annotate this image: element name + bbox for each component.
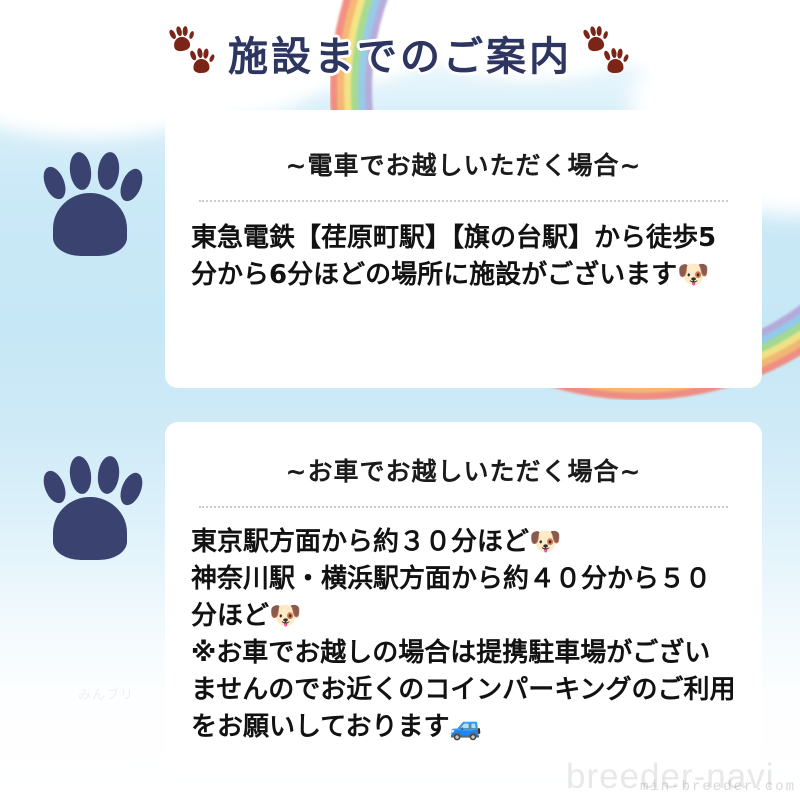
paw-print-pair-icon-left	[168, 25, 222, 81]
watermark-secondary: min-breeder.com	[640, 779, 796, 795]
card-divider	[199, 506, 728, 508]
watermark-faint: みんブリ	[78, 684, 134, 703]
paw-print-icon	[601, 46, 629, 76]
paw-print-pair-icon-right	[578, 25, 632, 81]
paw-print-icon-car	[34, 452, 146, 564]
card-heading-train: ~電車でお越しいただく場合~	[191, 146, 736, 182]
info-card-train: ~電車でお越しいただく場合~ 東急電鉄【荏原町駅】【旗の台駅】から徒歩5分から6…	[165, 110, 762, 388]
info-card-car: ~お車でお越しいただく場合~ 東京駅方面から約３０分ほど🐶 神奈川駅・横浜駅方面…	[165, 422, 762, 775]
card-body-car: 東京駅方面から約３０分ほど🐶 神奈川駅・横浜駅方面から約４０分から５０分ほど🐶 …	[191, 524, 736, 745]
paw-print-icon	[187, 46, 215, 76]
guide-page: 施設までのご案内 ~電車でお越しいただく場合~ 東急電鉄【荏原町駅】【旗の台駅】…	[0, 0, 800, 800]
page-title: 施設までのご案内	[228, 24, 572, 82]
card-divider	[199, 200, 728, 202]
page-title-row: 施設までのご案内	[0, 18, 800, 88]
card-body-train: 東急電鉄【荏原町駅】【旗の台駅】から徒歩5分から6分ほどの場所に施設がございます…	[191, 220, 736, 294]
paw-print-icon-train	[34, 148, 146, 260]
card-heading-car: ~お車でお越しいただく場合~	[191, 452, 736, 488]
